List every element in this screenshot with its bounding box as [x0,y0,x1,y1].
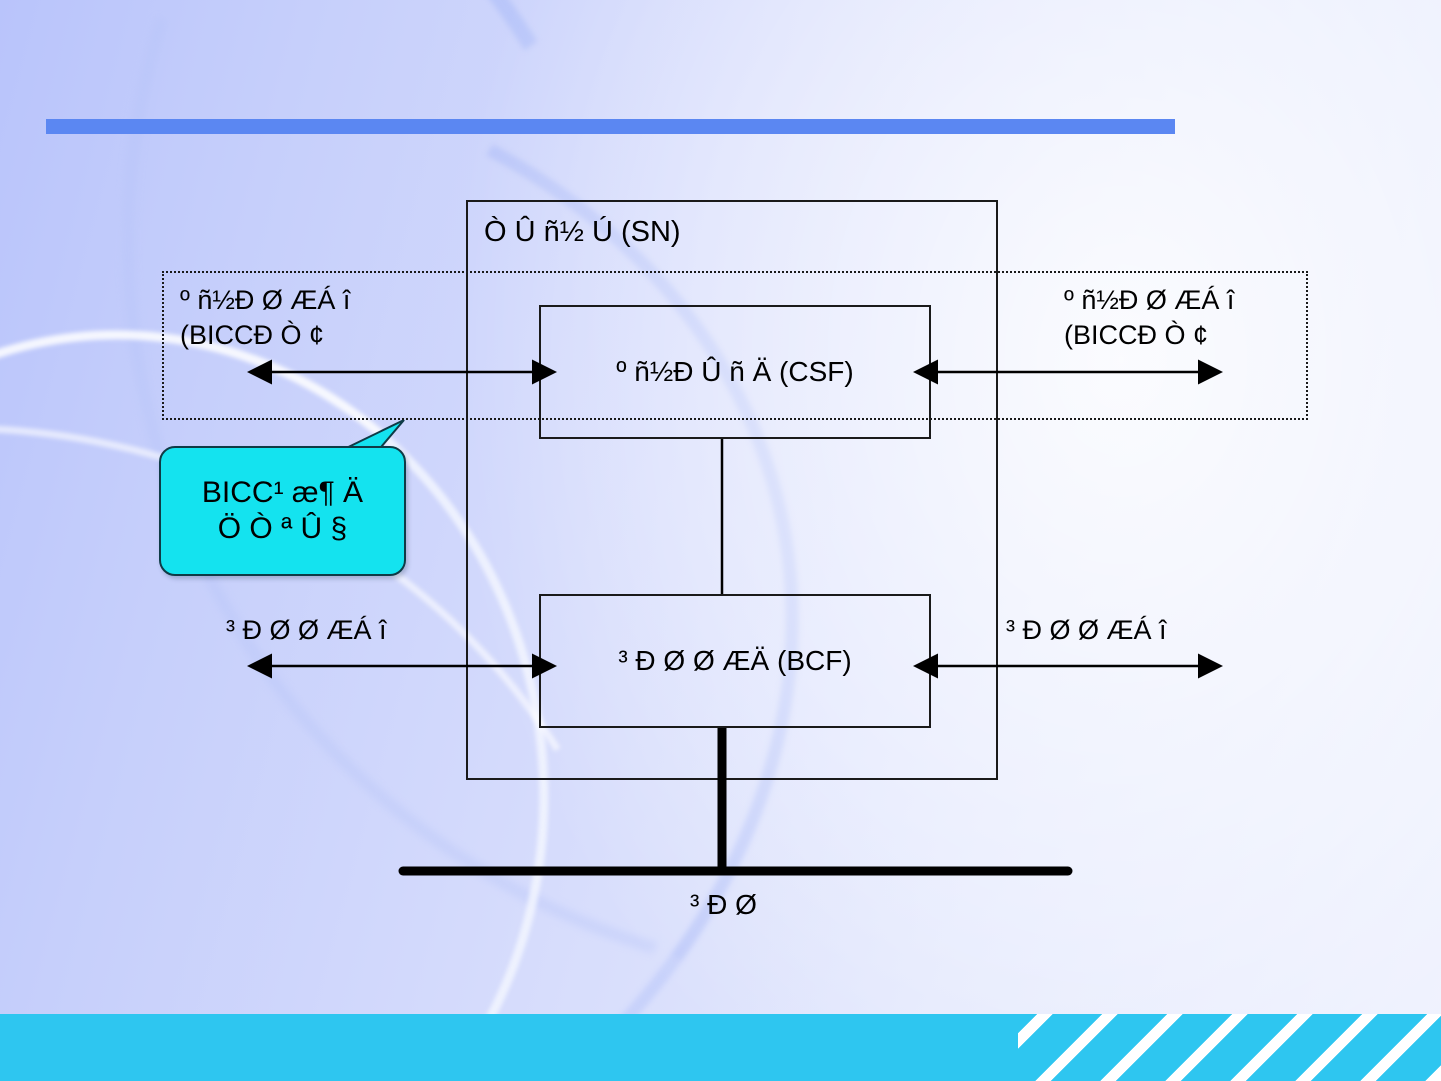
bicc-callout[interactable]: BICC¹ æ¶ Ä Ö Ò ª Û § [159,446,406,576]
bcf-right-interface-label: ³ Ð Ø Ø ÆÁ î [1006,613,1167,648]
bicc-callout-line2: Ö Ò ª Û § [218,512,347,546]
bicc-callout-line1: BICC¹ æ¶ Ä [202,476,363,510]
bcf-left-interface-label: ³ Ð Ø Ø ÆÁ î [226,613,387,648]
csf-right-interface-label-line2: (BICCÐ Ò ¢ [1064,318,1234,353]
csf-left-interface-label-line1: º ñ½Ð Ø ÆÁ î [180,283,350,318]
csf-right-interface-label: º ñ½Ð Ø ÆÁ î (BICCÐ Ò ¢ [1064,283,1234,352]
bearer-network-label: ³ Ð Ø [690,889,757,921]
bicc-callout-text: BICC¹ æ¶ Ä Ö Ò ª Û § [161,448,404,574]
csf-left-interface-label-line2: (BICCÐ Ò ¢ [180,318,350,353]
footer-band [0,1014,1441,1081]
csf-right-interface-label-line1: º ñ½Ð Ø ÆÁ î [1064,283,1234,318]
csf-left-interface-label: º ñ½Ð Ø ÆÁ î (BICCÐ Ò ¢ [180,283,350,352]
slide-canvas: Ò Û ñ½ Ú (SN) º ñ½Ð Û ñ Ä (CSF) ³ Ð Ø Ø … [0,0,1441,1081]
architecture-diagram: Ò Û ñ½ Ú (SN) º ñ½Ð Û ñ Ä (CSF) ³ Ð Ø Ø … [0,0,1441,1081]
footer-stripes [1018,1014,1441,1081]
